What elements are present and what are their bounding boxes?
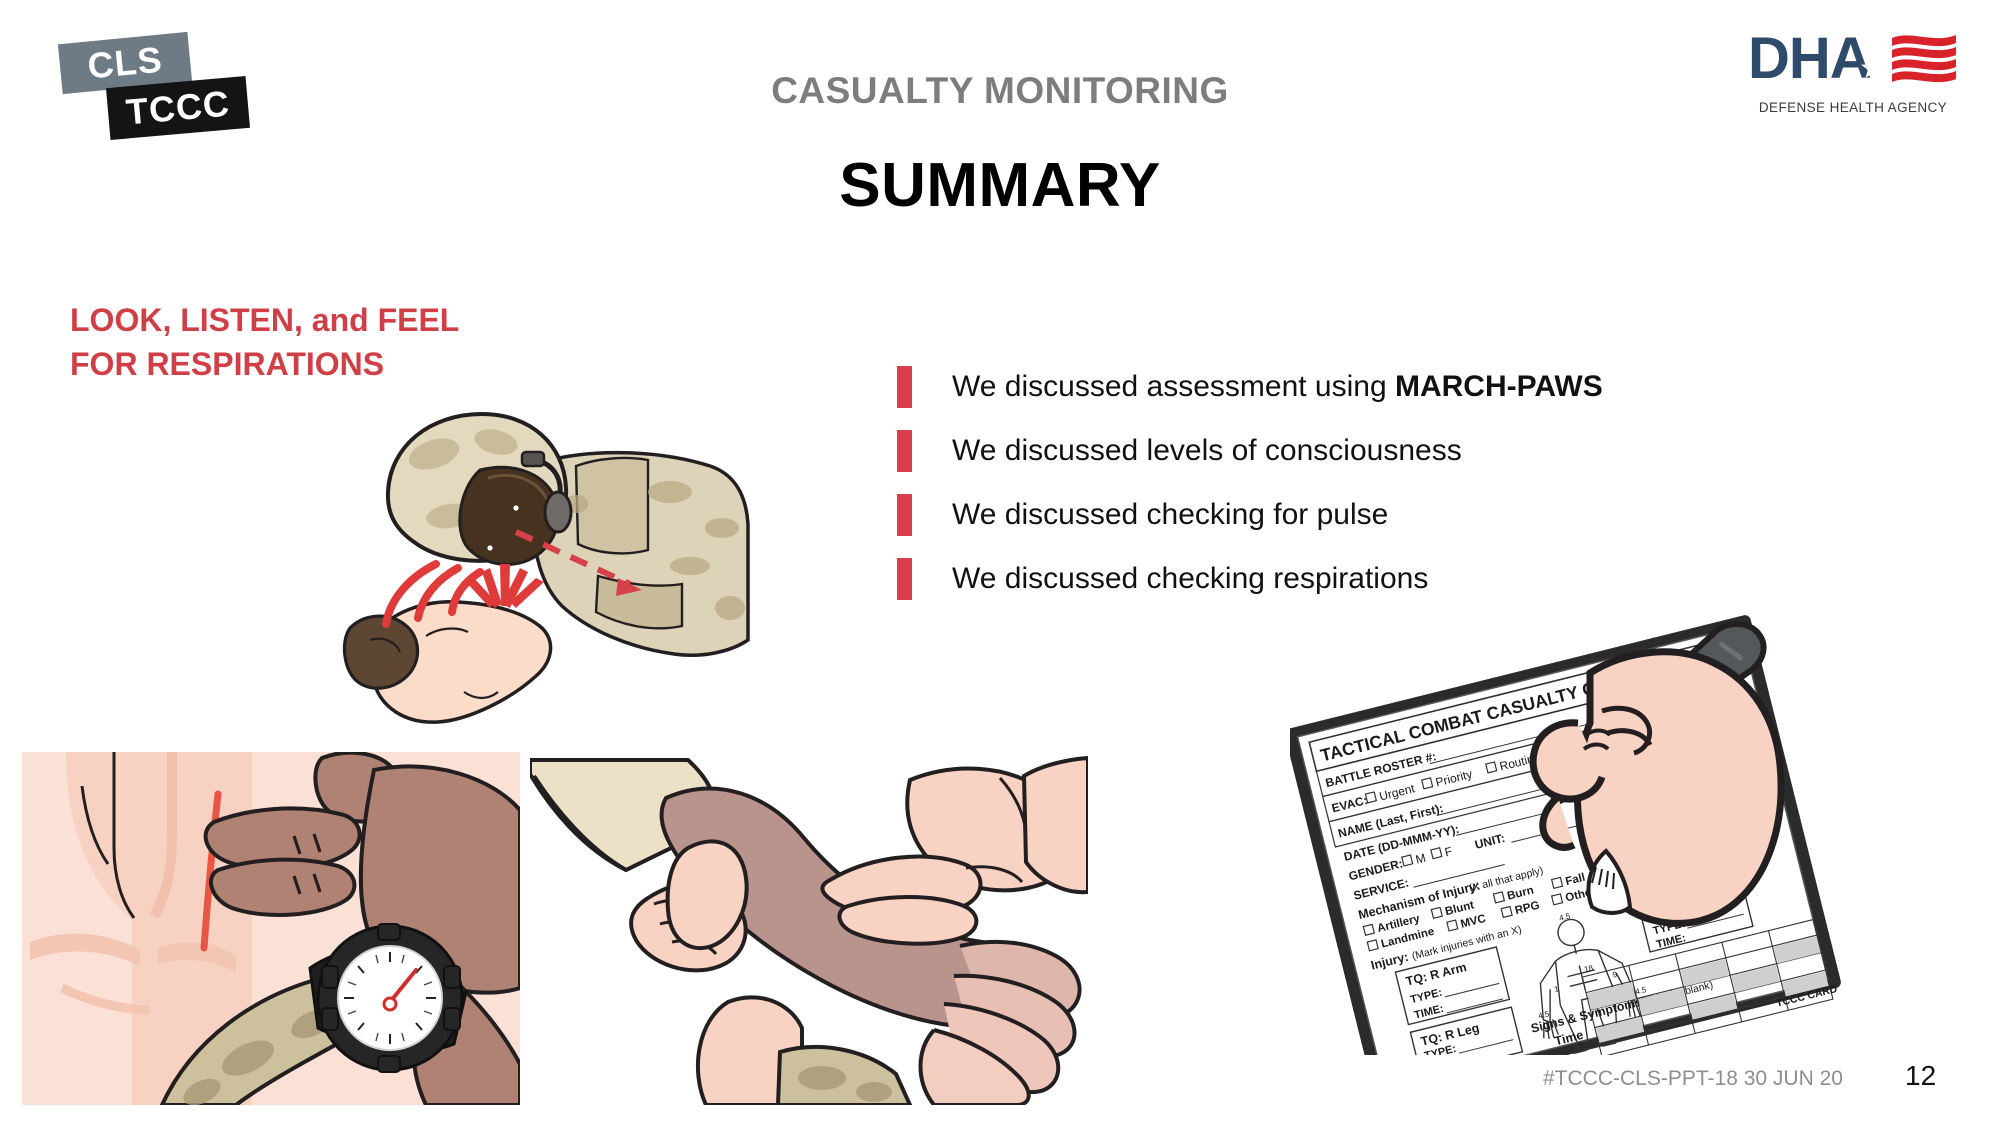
list-item-label: We discussed assessment using MARCH-PAWS <box>952 370 1603 404</box>
bullet-1-bold: MARCH-PAWS <box>1395 370 1603 403</box>
list-item: We discussed checking for pulse <box>897 483 1897 547</box>
list-item: We discussed checking respirations <box>897 547 1897 611</box>
list-item: We discussed assessment using MARCH-PAWS <box>897 355 1897 419</box>
summary-bullet-list: We discussed assessment using MARCH-PAWS… <box>897 355 1897 611</box>
footer-document-code: #TCCC-CLS-PPT-18 30 JUN 20 <box>1543 1067 1843 1091</box>
bullet-marker-icon <box>897 558 912 600</box>
list-item: We discussed levels of consciousness <box>897 419 1897 483</box>
bullet-marker-icon <box>897 430 912 472</box>
page-number: 12 <box>1905 1060 1936 1092</box>
carotid-pulse-illustration <box>22 752 520 1105</box>
radial-pulse-illustration <box>530 752 1088 1105</box>
bullet-marker-icon <box>897 366 912 408</box>
page-title: SUMMARY <box>0 150 2000 221</box>
medic-look-listen-feel-illustration <box>330 400 750 740</box>
list-item-label: We discussed checking respirations <box>952 562 1428 596</box>
look-listen-feel-heading: LOOK, LISTEN, and FEEL FOR RESPIRATIONS <box>70 298 630 386</box>
bullet-4-text: We discussed checking respirations <box>952 562 1428 595</box>
tccc-card-illustration: TACTICAL COMBAT CASUALTY CARE (TCCC) CAR… <box>1290 615 1890 1055</box>
slide-kicker: CASUALTY MONITORING <box>0 70 2000 112</box>
bullet-2-text: We discussed levels of consciousness <box>952 434 1462 467</box>
list-item-label: We discussed checking for pulse <box>952 498 1388 532</box>
llf-heading-line2: FOR RESPIRATIONS <box>70 342 630 386</box>
bullet-3-text: We discussed checking for pulse <box>952 498 1388 531</box>
bullet-1-text: We discussed assessment using <box>952 370 1395 403</box>
list-item-label: We discussed levels of consciousness <box>952 434 1462 468</box>
slide-canvas: CLS TCCC DHA ★ DEFENSE HEALTH AGENCY CAS… <box>0 0 2000 1125</box>
llf-heading-line1: LOOK, LISTEN, and FEEL <box>70 298 630 342</box>
bullet-marker-icon <box>897 494 912 536</box>
